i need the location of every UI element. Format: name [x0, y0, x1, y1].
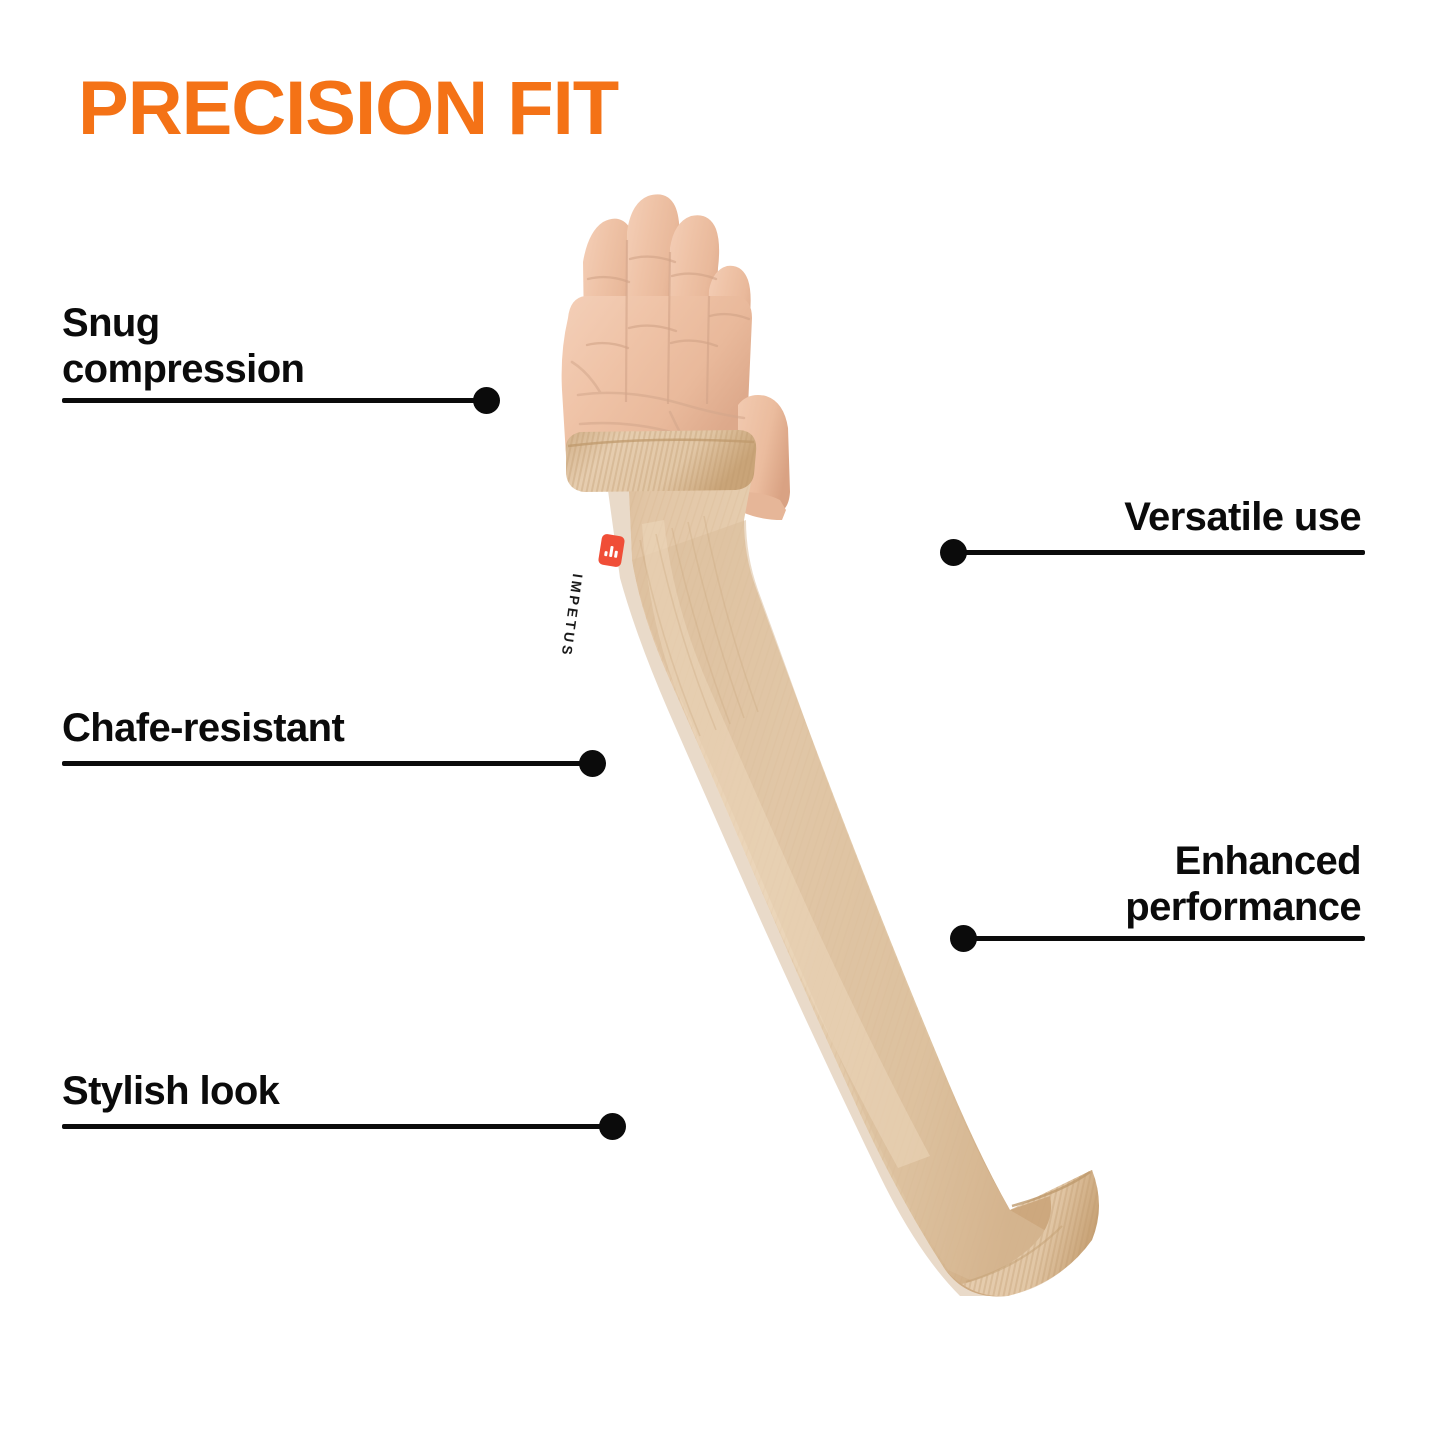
callout-leader-line [62, 761, 592, 766]
callout-label: Versatile use [1124, 494, 1361, 540]
callout-label: Enhanced performance [1125, 838, 1361, 930]
compression-sleeve [566, 430, 1099, 1296]
infographic-page: PRECISION FIT [0, 0, 1445, 1445]
brand-logo-icon [598, 533, 626, 567]
callout-leader-dot [940, 539, 967, 566]
callout-leader-dot [950, 925, 977, 952]
callout-leader-dot [473, 387, 500, 414]
callout-leader-line [953, 550, 1365, 555]
brand-wordmark: IMPETUS [553, 573, 586, 694]
callout-leader-dot [599, 1113, 626, 1140]
callout-leader-dot [579, 750, 606, 777]
page-title: PRECISION FIT [78, 69, 618, 149]
callout-leader-line [62, 398, 486, 403]
callout-leader-line [963, 936, 1365, 941]
hand-illustration [562, 194, 790, 520]
callout-label: Chafe-resistant [62, 705, 344, 751]
callout-label: Snug compression [62, 300, 304, 392]
logo-bars-icon [598, 533, 626, 567]
callout-leader-line [62, 1124, 612, 1129]
callout-label: Stylish look [62, 1068, 279, 1114]
